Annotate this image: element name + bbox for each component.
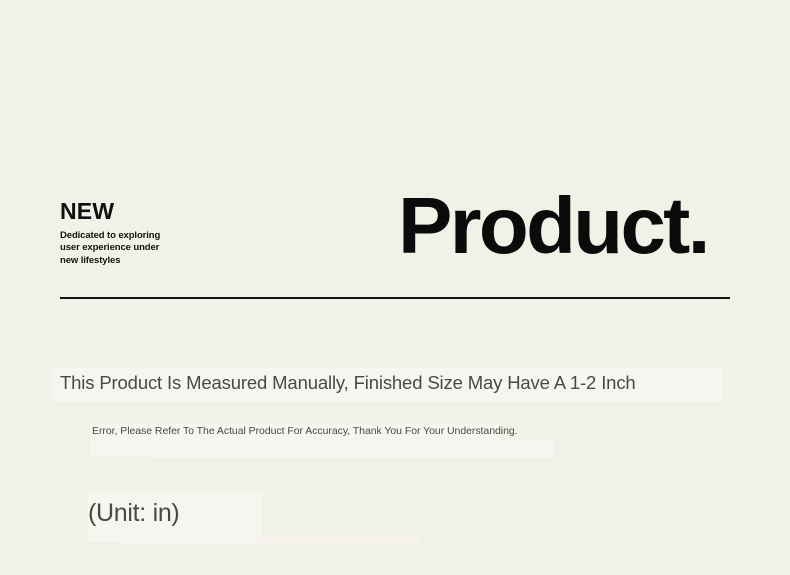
notice-body: Error, Please Refer To The Actual Produc… <box>92 425 522 438</box>
notice-title: This Product Is Measured Manually, Finis… <box>60 372 760 393</box>
product-banner-page: NEW Dedicated to exploring user experien… <box>0 0 790 575</box>
unit-label: (Unit: in) <box>88 498 179 528</box>
measurement-notice: This Product Is Measured Manually, Finis… <box>0 0 790 575</box>
